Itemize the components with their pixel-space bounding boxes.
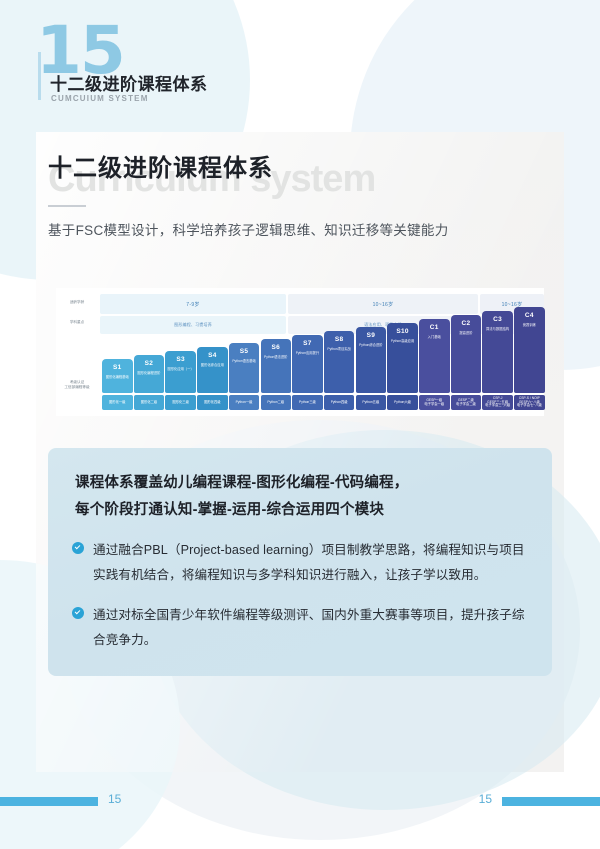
course-level-description: Python高级应用 [389, 339, 416, 343]
page-subtitle: 基于FSC模型设计，科学培养孩子逻辑思维、知识迁移等关键能力 [48, 219, 548, 239]
course-certification-label[interactable]: GESP二级 电子学会二级 [451, 395, 482, 410]
bullet-text: 通过融合PBL（Project-based learning）项目制教学思路，将… [93, 538, 534, 587]
diagram-axis-column: 适龄学龄 学科重点 考级认证 工信部编程等级 [56, 288, 98, 416]
list-item: 通过对标全国青少年软件编程等级测评、国内外重大赛事等项目，提升孩子综合竞争力。 [72, 603, 534, 652]
course-level-card[interactable]: C2提高进阶 [451, 315, 482, 393]
title-divider [48, 205, 86, 207]
course-certification-label[interactable]: CSP-S / NOIP GESP六~八级 电子学会七~八级 [514, 395, 545, 410]
course-level-code: S8 [335, 336, 344, 343]
course-level-code: S6 [271, 344, 280, 351]
axis-label-focus: 学科重点 [56, 320, 98, 325]
course-level-description: 图形化应用（一） [165, 367, 195, 371]
diagram-grid: 适龄学龄 学科重点 考级认证 工信部编程等级 7-9岁 10~16岁 10~16… [56, 288, 544, 416]
course-certification-label[interactable]: Python一级 [229, 395, 260, 410]
course-level-code: C4 [525, 312, 534, 319]
course-level-card[interactable]: S5Python语言基础 [229, 343, 260, 393]
course-level-card[interactable]: S10Python高级应用 [387, 323, 418, 393]
group-header-age-2: 10~16岁 [288, 294, 478, 314]
bullet-text: 通过对标全国青少年软件编程等级测评、国内外重大赛事等项目，提升孩子综合竞争力。 [93, 603, 534, 652]
footer-bar-left [0, 797, 98, 806]
highlight-heading-line2: 每个阶段打通认知-掌握-运用-综合运用四个模块 [75, 497, 525, 524]
axis-label-age: 适龄学龄 [56, 300, 98, 305]
course-level-description: 算法与数据结构 [484, 327, 511, 331]
course-level-description: 图形化综合应用 [199, 363, 226, 367]
page-title: 十二级进阶课程体系 [48, 148, 548, 183]
course-level-card[interactable]: C3算法与数据结构 [482, 311, 513, 393]
group-focus-1: 图形编程、习惯培养 [100, 316, 286, 334]
course-certification-label[interactable]: 图形化一级 [102, 395, 133, 410]
course-level-description: 图形化编程进阶 [135, 371, 162, 375]
course-certification-label[interactable]: Python三级 [292, 395, 323, 410]
course-level-description: 入门基础 [426, 335, 443, 339]
course-level-description: Python综合进阶 [357, 343, 384, 347]
page-header: 15 十二级进阶课程体系 CUMCUIUM SYSTEM [34, 22, 374, 104]
course-level-card[interactable]: S9Python综合进阶 [356, 327, 387, 393]
course-certification-label[interactable]: GESP一级 电子学会一级 [419, 395, 450, 410]
course-level-code: S3 [176, 356, 185, 363]
course-level-code: S9 [367, 332, 376, 339]
highlight-bullet-list: 通过融合PBL（Project-based learning）项目制教学思路，将… [72, 538, 534, 668]
header-title-cn: 十二级进阶课程体系 [50, 70, 208, 95]
course-level-description: Python语法进阶 [262, 355, 289, 359]
course-level-code: C2 [461, 320, 470, 327]
header-title-en: CUMCUIUM SYSTEM [51, 94, 149, 103]
axis-label-certification: 考级认证 工信部编程等级 [56, 380, 98, 390]
course-certification-label[interactable]: 图形化四级 [197, 395, 228, 410]
course-level-card[interactable]: S4图形化综合应用 [197, 347, 228, 393]
course-level-description: 图形化编程基础 [104, 375, 131, 379]
course-level-description: 提高进阶 [457, 331, 474, 335]
page-number-left: 15 [108, 792, 121, 806]
course-certification-label[interactable]: 图形化三级 [165, 395, 196, 410]
course-level-card[interactable]: S1图形化编程基础 [102, 359, 133, 393]
course-certification-label[interactable]: 图形化二级 [134, 395, 165, 410]
course-level-card[interactable]: C1入门基础 [419, 319, 450, 393]
course-level-card[interactable]: C4竞赛训练 [514, 307, 545, 393]
course-certification-label[interactable]: Python五级 [356, 395, 387, 410]
check-circle-icon [72, 542, 84, 554]
course-level-description: Python语言基础 [230, 359, 257, 363]
course-level-code: S10 [396, 328, 408, 335]
footer-bar-right [502, 797, 600, 806]
highlight-heading: 课程体系覆盖幼儿编程课程-图形化编程-代码编程， 每个阶段打通认知-掌握-运用-… [75, 470, 525, 524]
title-block: Curriculum system 十二级进阶课程体系 基于FSC模型设计，科学… [48, 148, 548, 239]
page-number-right: 15 [479, 792, 492, 806]
course-level-card[interactable]: S3图形化应用（一） [165, 351, 196, 393]
course-level-description: Python项目实战 [325, 347, 352, 351]
list-item: 通过融合PBL（Project-based learning）项目制教学思路，将… [72, 538, 534, 587]
course-certification-label[interactable]: CSP-J GESP三~五级 电子学会三~六级 [482, 395, 513, 410]
course-level-description: 竞赛训练 [521, 323, 538, 327]
course-level-code: S7 [303, 340, 312, 347]
check-circle-icon [72, 607, 84, 619]
course-certification-label[interactable]: Python四级 [324, 395, 355, 410]
header-accent-bar [38, 52, 41, 100]
course-level-code: S5 [240, 348, 249, 355]
course-level-card[interactable]: S6Python语法进阶 [261, 339, 292, 393]
course-level-code: S2 [145, 360, 154, 367]
background-decoration [0, 0, 600, 849]
highlight-heading-line1: 课程体系覆盖幼儿编程课程-图形化编程-代码编程， [75, 470, 525, 497]
course-level-description: Python应用提升 [294, 351, 321, 355]
course-level-card[interactable]: S8Python项目实战 [324, 331, 355, 393]
curriculum-ladder-diagram: 适龄学龄 学科重点 考级认证 工信部编程等级 7-9岁 10~16岁 10~16… [56, 288, 544, 416]
course-level-card[interactable]: S7Python应用提升 [292, 335, 323, 393]
group-header-age-1: 7-9岁 [100, 294, 286, 314]
course-certification-label[interactable]: Python六级 [387, 395, 418, 410]
course-level-code: S4 [208, 352, 217, 359]
course-certification-label[interactable]: Python二级 [261, 395, 292, 410]
course-level-code: C1 [430, 324, 439, 331]
course-level-card[interactable]: S2图形化编程进阶 [134, 355, 165, 393]
course-level-code: C3 [493, 316, 502, 323]
course-level-code: S1 [113, 364, 122, 371]
highlight-card: 课程体系覆盖幼儿编程课程-图形化编程-代码编程， 每个阶段打通认知-掌握-运用-… [48, 448, 552, 676]
